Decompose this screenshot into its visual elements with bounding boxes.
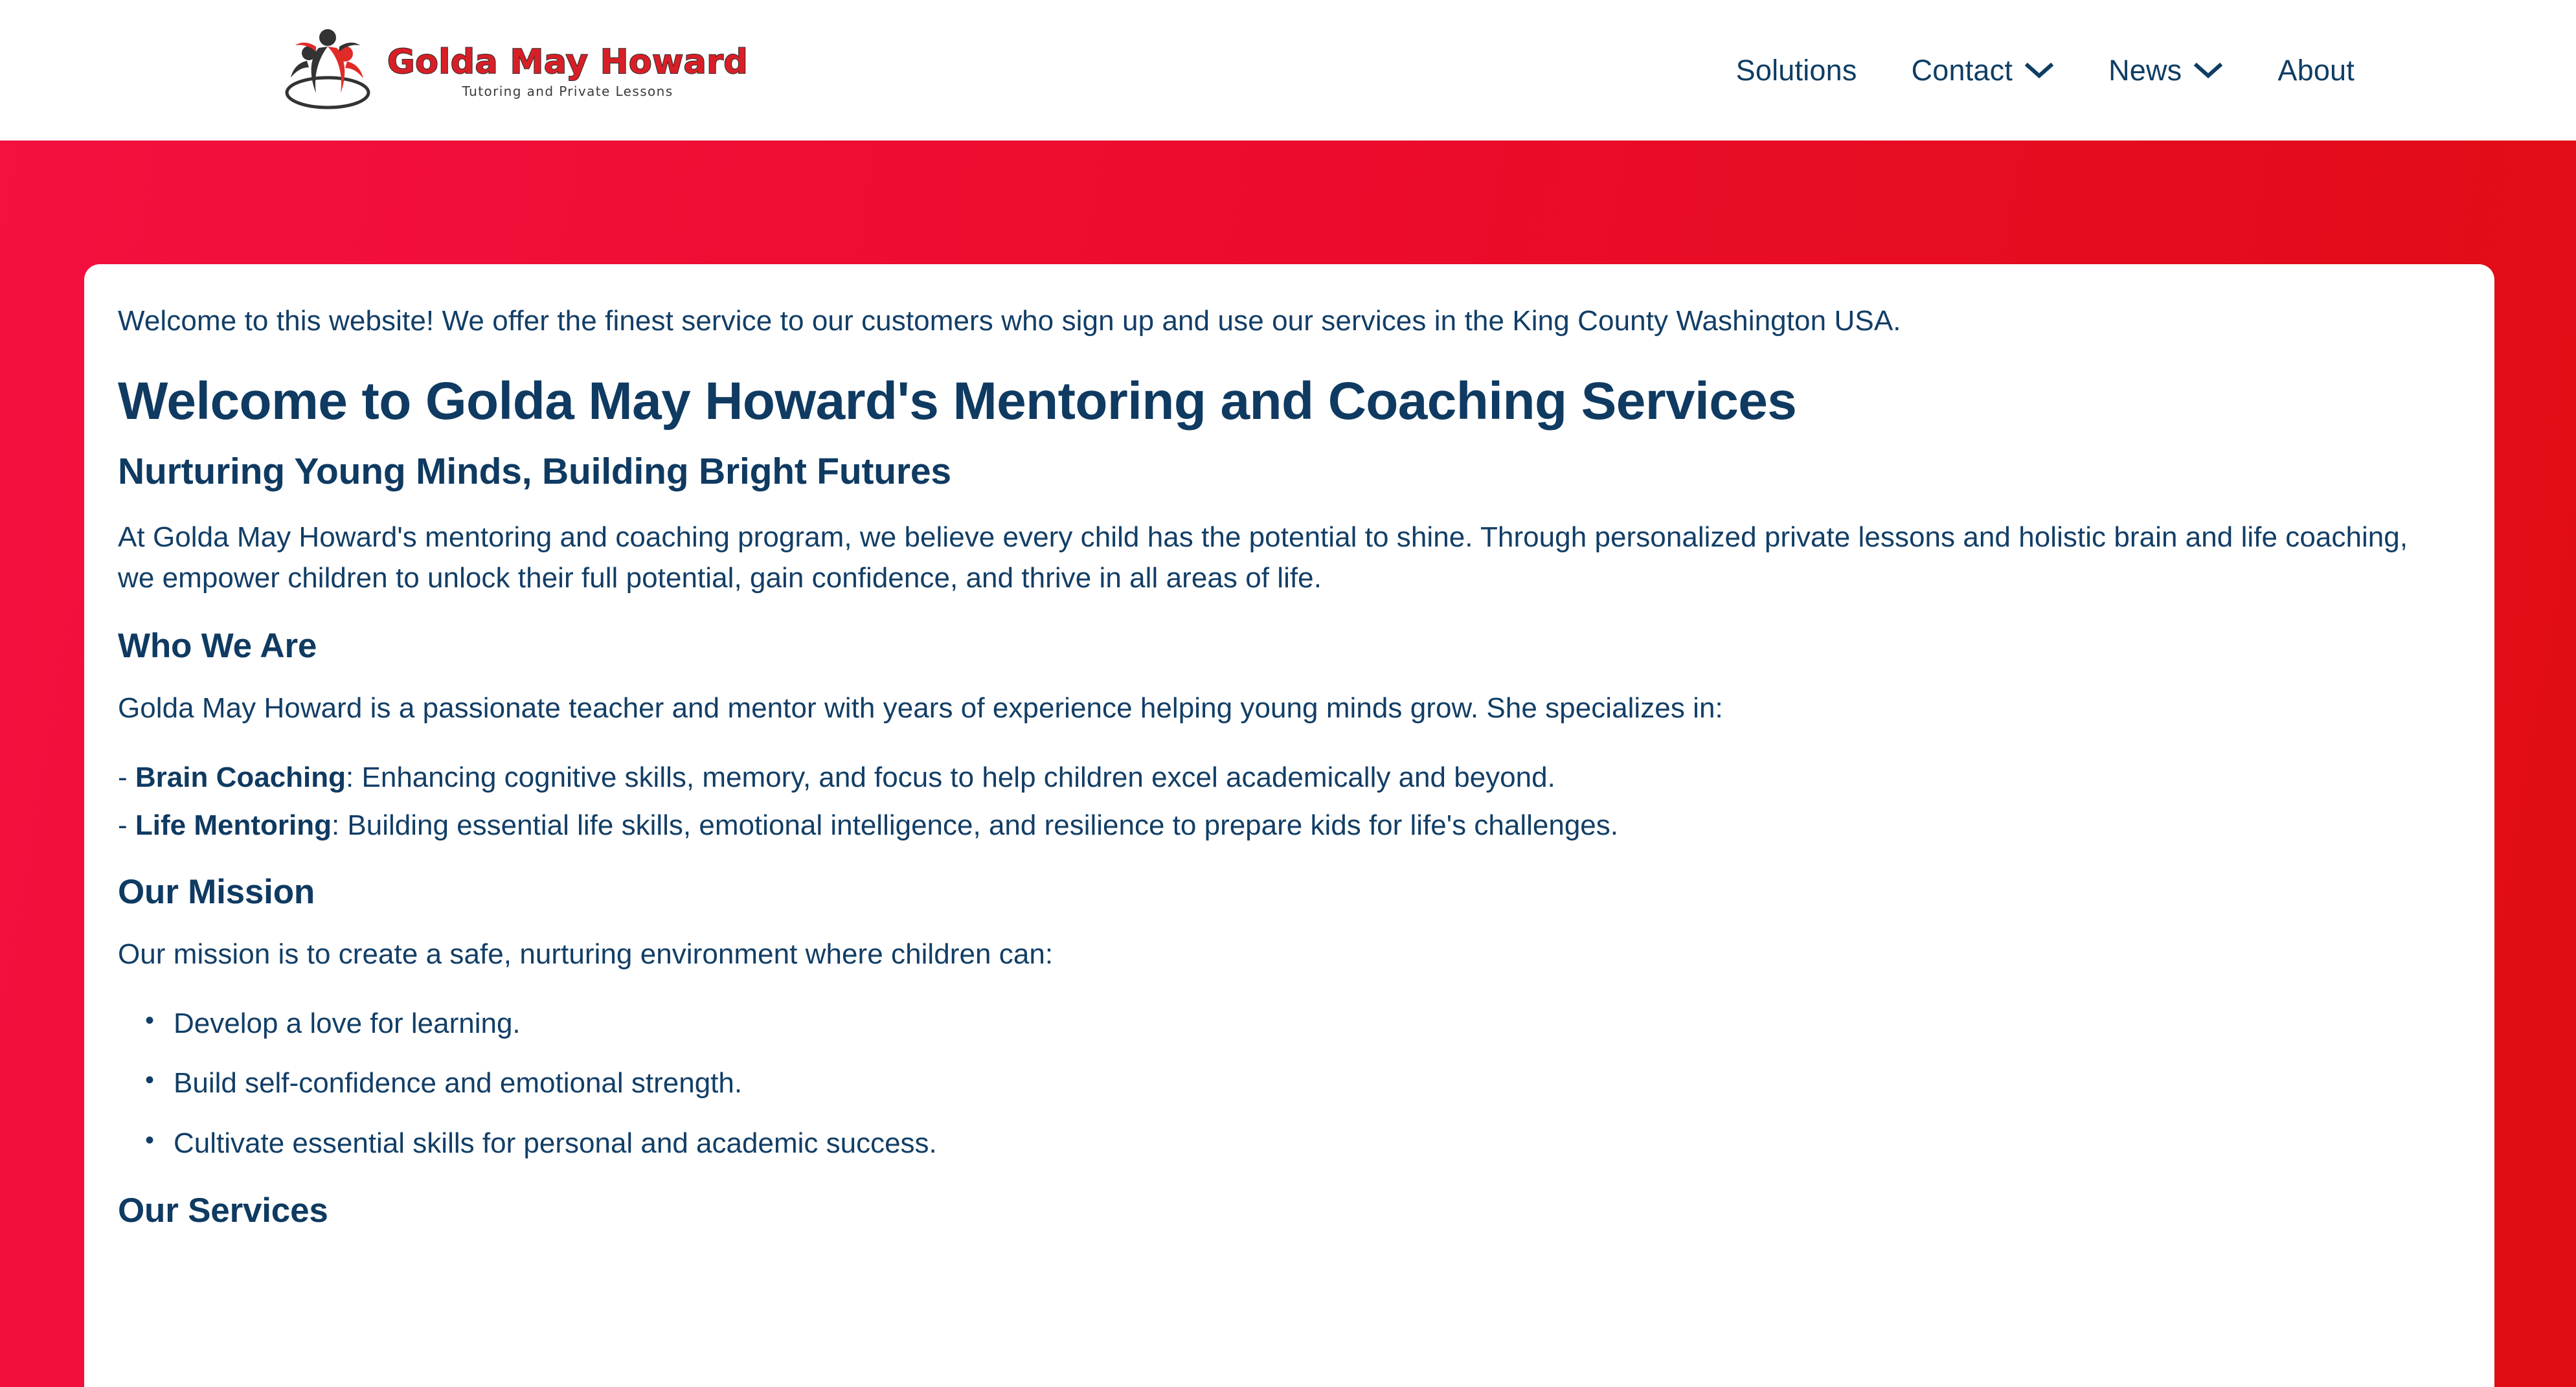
section-heading-our-mission: Our Mission [118, 873, 2461, 912]
nav-label-news: News [2108, 54, 2182, 87]
brand-name: Golda May Howard [387, 45, 748, 80]
content-card: Welcome to this website! We offer the fi… [84, 264, 2494, 1387]
page-root: Golda May Howard Tutoring and Private Le… [0, 0, 2576, 1387]
brand-logo-link[interactable]: Golda May Howard Tutoring and Private Le… [278, 25, 748, 115]
section-heading-who-we-are: Who We Are [118, 627, 2461, 666]
specialty-description: : Enhancing cognitive skills, memory, an… [346, 761, 1555, 793]
nav-item-about[interactable]: About [2250, 54, 2382, 87]
page-subtitle: Nurturing Young Minds, Building Bright F… [118, 451, 2461, 493]
our-mission-paragraph: Our mission is to create a safe, nurturi… [118, 934, 2423, 975]
who-we-are-paragraph: Golda May Howard is a passionate teacher… [118, 688, 2423, 728]
nav-item-news[interactable]: News [2081, 54, 2250, 87]
nav-label-contact: Contact [1912, 54, 2013, 87]
specialty-term: Brain Coaching [135, 761, 346, 793]
site-header: Golda May Howard Tutoring and Private Le… [0, 0, 2576, 141]
specialty-description: : Building essential life skills, emotio… [332, 809, 1618, 841]
specialty-term: Life Mentoring [135, 809, 332, 841]
three-figures-in-ring-logo-icon [278, 25, 377, 115]
brand-wordmark: Golda May Howard Tutoring and Private Le… [387, 41, 748, 99]
lead-paragraph: At Golda May Howard's mentoring and coac… [118, 517, 2423, 598]
nav-item-contact[interactable]: Contact [1884, 54, 2081, 87]
content-card-inner: Welcome to this website! We offer the fi… [118, 264, 2461, 1230]
specialty-item: - Life Mentoring: Building essential lif… [118, 806, 2461, 846]
specialty-prefix: - [118, 809, 135, 841]
page-title: Welcome to Golda May Howard's Mentoring … [118, 372, 2461, 431]
specialty-prefix: - [118, 761, 135, 793]
nav-label-about: About [2277, 54, 2355, 87]
nav-label-solutions: Solutions [1736, 54, 1857, 87]
mission-bullet-list: Develop a love for learning. Build self-… [118, 1004, 2461, 1164]
main-navigation: Solutions Contact News About [1709, 0, 2382, 141]
intro-line: Welcome to this website! We offer the fi… [118, 300, 2461, 342]
specialties-list: - Brain Coaching: Enhancing cognitive sk… [118, 758, 2461, 846]
specialty-item: - Brain Coaching: Enhancing cognitive sk… [118, 758, 2461, 798]
list-item: Build self-confidence and emotional stre… [168, 1063, 2461, 1103]
list-item: Develop a love for learning. [168, 1004, 2461, 1044]
list-item: Cultivate essential skills for personal … [168, 1123, 2461, 1164]
chevron-down-icon [2024, 62, 2054, 79]
section-heading-our-services: Our Services [118, 1191, 2461, 1230]
nav-item-solutions[interactable]: Solutions [1709, 54, 1884, 87]
chevron-down-icon [2193, 62, 2223, 79]
brand-tagline: Tutoring and Private Lessons [462, 84, 673, 99]
